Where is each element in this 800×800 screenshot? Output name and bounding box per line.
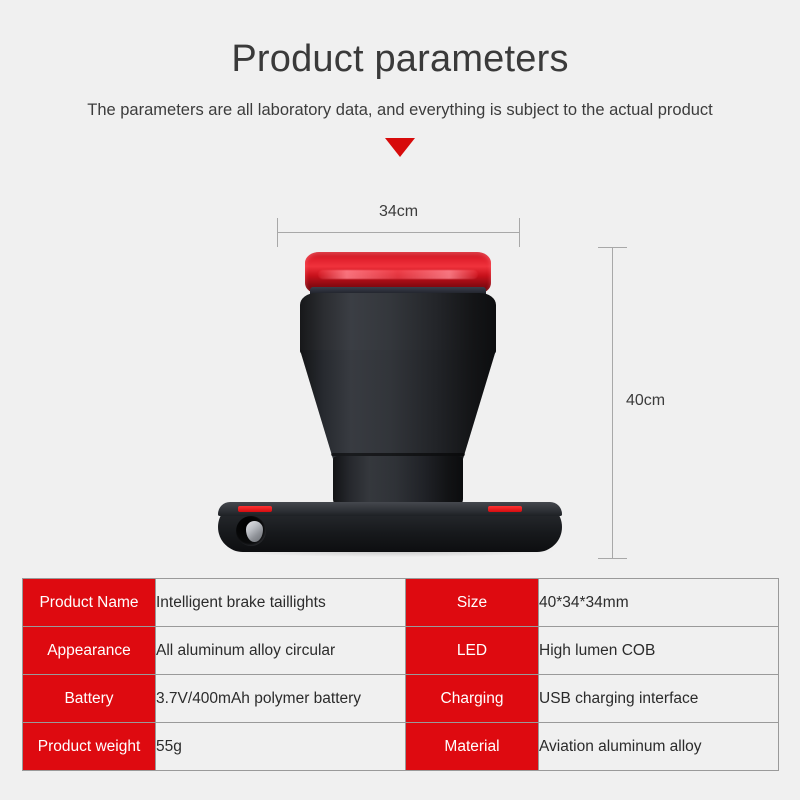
spec-label: Product weight (23, 723, 156, 771)
spec-label: Appearance (23, 627, 156, 675)
page-title: Product parameters (0, 36, 800, 82)
spec-label: Battery (23, 675, 156, 723)
spec-label: Product Name (23, 579, 156, 627)
triangle-down-icon (385, 138, 415, 157)
table-row: Appearance All aluminum alloy circular L… (23, 627, 779, 675)
spec-label: Size (406, 579, 539, 627)
bracket-red-accent-left (238, 506, 272, 512)
height-dimension-label: 40cm (626, 392, 665, 410)
page-subtitle: The parameters are all laboratory data, … (0, 99, 800, 121)
table-row: Battery 3.7V/400mAh polymer battery Char… (23, 675, 779, 723)
housing-lower-cylinder (333, 456, 463, 508)
spec-value: 3.7V/400mAh polymer battery (156, 675, 406, 723)
lens-highlight (318, 270, 478, 279)
spec-value: All aluminum alloy circular (156, 627, 406, 675)
spec-label: Charging (406, 675, 539, 723)
spec-value: 55g (156, 723, 406, 771)
spec-label: Material (406, 723, 539, 771)
spec-label: LED (406, 627, 539, 675)
table-row: Product Name Intelligent brake taillight… (23, 579, 779, 627)
brake-taillight-product-photo (200, 240, 580, 570)
bracket-red-accent-right (488, 506, 522, 512)
housing-upper-cylinder (300, 293, 496, 355)
table-row: Product weight 55g Material Aviation alu… (23, 723, 779, 771)
height-dimension-line (612, 247, 613, 559)
product-parameters-table: Product Name Intelligent brake taillight… (22, 578, 779, 771)
spec-value: Aviation aluminum alloy (539, 723, 779, 771)
width-dimension-line (277, 232, 520, 233)
spec-value: USB charging interface (539, 675, 779, 723)
spec-value: 40*34*34mm (539, 579, 779, 627)
housing-tapered-section (300, 350, 496, 460)
spec-value: High lumen COB (539, 627, 779, 675)
width-dimension-label: 34cm (277, 203, 520, 221)
spec-value: Intelligent brake taillights (156, 579, 406, 627)
